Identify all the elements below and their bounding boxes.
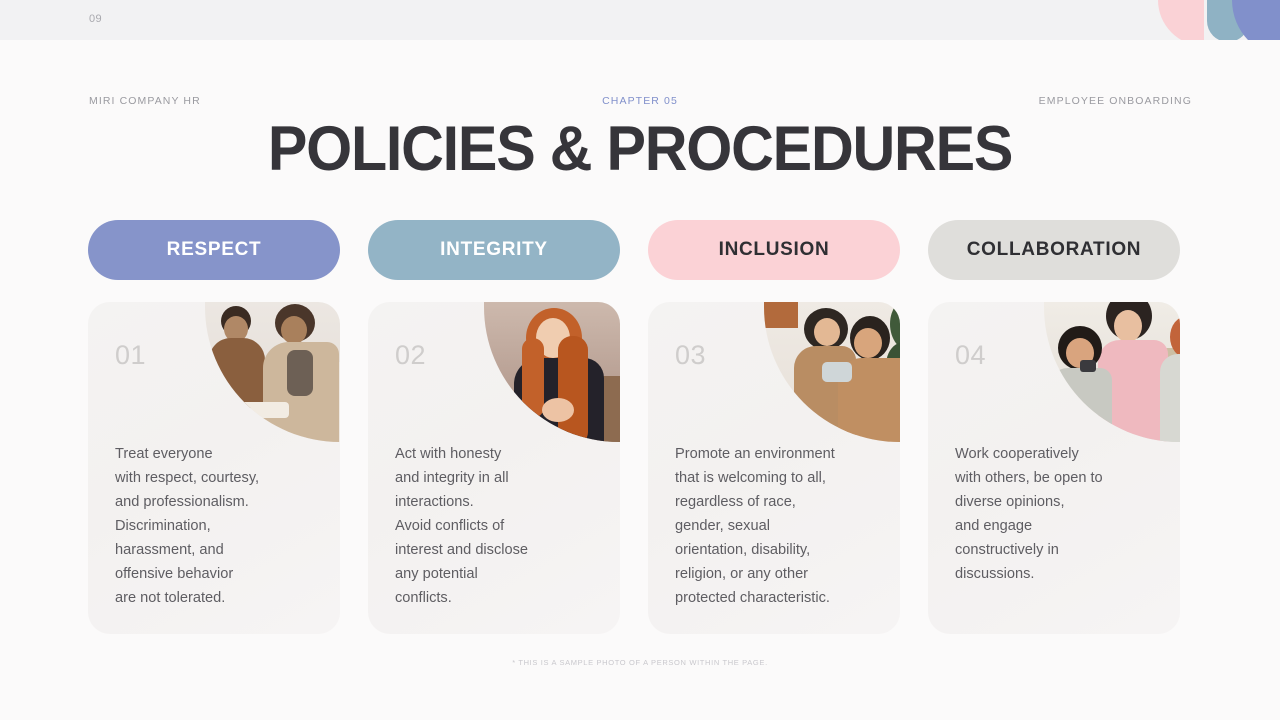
card-body-inclusion: Promote an environment that is welcoming… bbox=[675, 442, 884, 610]
column-collaboration: COLLABORATION bbox=[928, 220, 1180, 634]
company-label: MIRI COMPANY HR bbox=[89, 95, 201, 107]
card-respect: 01 Treat everyone with respect, courtesy… bbox=[88, 302, 340, 634]
card-body-collaboration: Work cooperatively with others, be open … bbox=[955, 442, 1164, 586]
pill-collaboration[interactable]: COLLABORATION bbox=[928, 220, 1180, 280]
page-number: 09 bbox=[89, 13, 102, 25]
photo-collaboration bbox=[1044, 302, 1180, 442]
pill-inclusion[interactable]: INCLUSION bbox=[648, 220, 900, 280]
pill-respect[interactable]: RESPECT bbox=[88, 220, 340, 280]
value-columns: RESPECT 01 bbox=[88, 220, 1192, 634]
decor-circle-pink-icon bbox=[1158, 0, 1204, 40]
card-inclusion: 03 Promote an environment that is welcom… bbox=[648, 302, 900, 634]
card-number-03: 03 bbox=[675, 340, 706, 371]
card-number-02: 02 bbox=[395, 340, 426, 371]
column-integrity: INTEGRITY 02 Act with honesty and bbox=[368, 220, 620, 634]
pill-integrity[interactable]: INTEGRITY bbox=[368, 220, 620, 280]
column-inclusion: INCLUSION bbox=[648, 220, 900, 634]
header-meta-row: MIRI COMPANY HR CHAPTER 05 EMPLOYEE ONBO… bbox=[0, 95, 1280, 109]
column-respect: RESPECT 01 bbox=[88, 220, 340, 634]
photo-respect bbox=[205, 302, 340, 442]
card-integrity: 02 Act with honesty and integrity in all… bbox=[368, 302, 620, 634]
page-title: POLICIES & PROCEDURES bbox=[38, 118, 1241, 181]
slide-canvas: MIRI COMPANY HR CHAPTER 05 EMPLOYEE ONBO… bbox=[0, 40, 1280, 720]
card-number-04: 04 bbox=[955, 340, 986, 371]
section-label: EMPLOYEE ONBOARDING bbox=[1039, 95, 1192, 107]
card-number-01: 01 bbox=[115, 340, 146, 371]
photo-integrity bbox=[484, 302, 620, 442]
card-body-integrity: Act with honesty and integrity in all in… bbox=[395, 442, 604, 610]
top-strip: 09 bbox=[0, 0, 1280, 40]
chapter-label: CHAPTER 05 bbox=[602, 95, 678, 107]
photo-disclaimer: * THIS IS A SAMPLE PHOTO OF A PERSON WIT… bbox=[0, 658, 1280, 667]
card-body-respect: Treat everyone with respect, courtesy, a… bbox=[115, 442, 324, 610]
photo-inclusion bbox=[764, 302, 900, 442]
card-collaboration: 04 Work cooperatively with others, be op… bbox=[928, 302, 1180, 634]
